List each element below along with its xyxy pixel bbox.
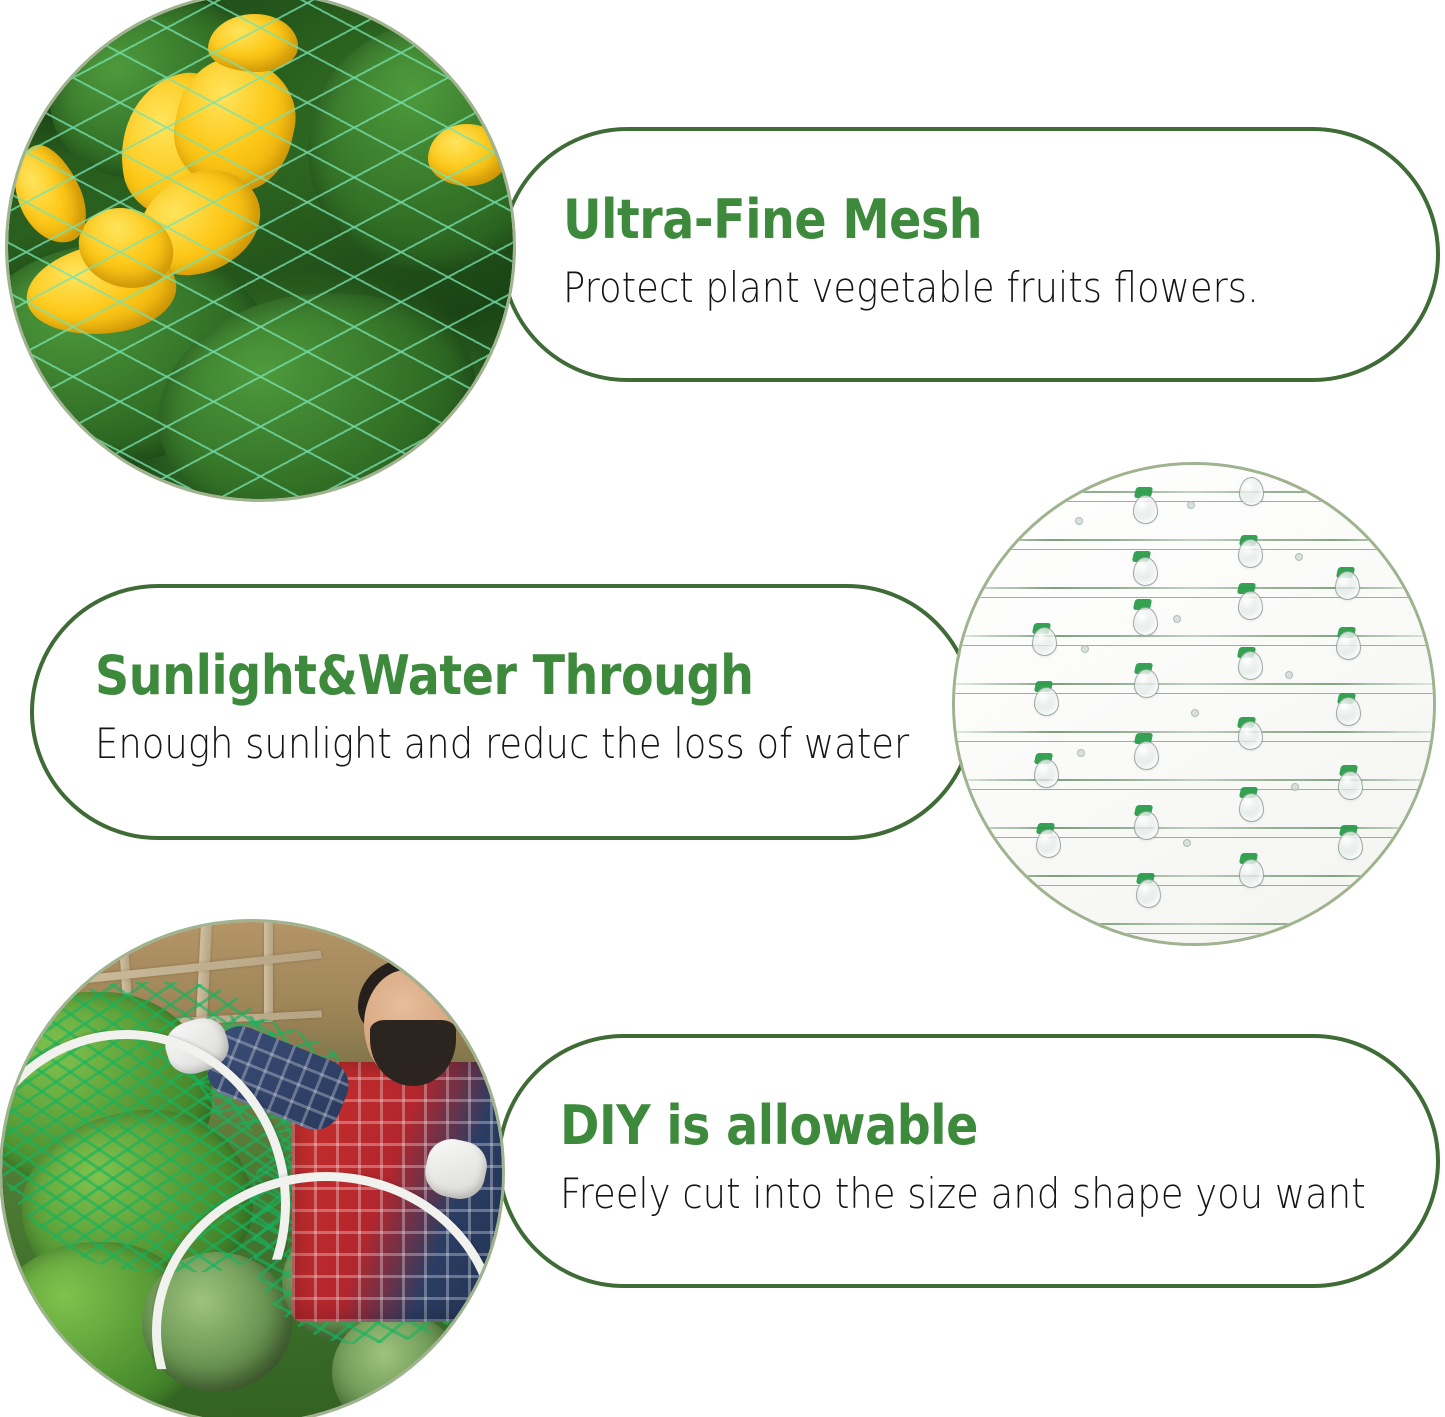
water-droplet bbox=[1032, 627, 1057, 656]
feature-subtitle-ultra-fine-mesh: Protect plant vegetable fruits flowers. bbox=[563, 265, 1293, 311]
flower-photo bbox=[8, 0, 513, 499]
water-droplet bbox=[1336, 697, 1361, 726]
mesh-strand bbox=[955, 731, 1433, 733]
mesh-strand bbox=[955, 587, 1433, 589]
water-droplet bbox=[1036, 829, 1061, 858]
water-droplet bbox=[1239, 793, 1264, 822]
small-water-bead bbox=[1285, 671, 1293, 679]
feature-subtitle-sunlight-water-through: Enough sunlight and reduc the loss of wa… bbox=[95, 721, 861, 767]
mesh-strand bbox=[955, 491, 1433, 493]
water-droplet bbox=[1338, 771, 1363, 800]
water-droplet bbox=[1133, 557, 1158, 586]
mesh-strand bbox=[955, 827, 1433, 829]
mesh-strand bbox=[955, 539, 1433, 541]
water-droplet bbox=[1238, 651, 1263, 680]
garden-stake bbox=[264, 922, 273, 1022]
water-droplet bbox=[1239, 477, 1264, 506]
small-water-bead bbox=[1183, 839, 1191, 847]
mesh-strand bbox=[955, 875, 1433, 877]
feature-text-diy-is-allowable: DIY is allowable Freely cut into the siz… bbox=[560, 1098, 1400, 1217]
feature-image-ultra-fine-mesh bbox=[8, 0, 513, 499]
small-water-bead bbox=[1191, 709, 1199, 717]
small-water-bead bbox=[1077, 749, 1085, 757]
water-droplet bbox=[1238, 591, 1263, 620]
water-droplet bbox=[1133, 495, 1158, 524]
small-water-bead bbox=[1173, 615, 1181, 623]
water-droplet bbox=[1238, 539, 1263, 568]
small-water-bead bbox=[1081, 645, 1089, 653]
feature-title-sunlight-water-through: Sunlight&Water Through bbox=[95, 648, 861, 705]
water-droplet bbox=[1338, 831, 1363, 860]
small-water-bead bbox=[1291, 783, 1299, 791]
infographic-page: Ultra-Fine Mesh Protect plant vegetable … bbox=[0, 0, 1445, 1417]
gardener-photo bbox=[2, 922, 502, 1417]
small-water-bead bbox=[1295, 553, 1303, 561]
water-droplet bbox=[1136, 879, 1161, 908]
mesh-strand bbox=[955, 635, 1433, 637]
water-droplet bbox=[1238, 721, 1263, 750]
water-droplet bbox=[1335, 571, 1360, 600]
feature-title-diy-is-allowable: DIY is allowable bbox=[560, 1098, 1299, 1155]
small-water-bead bbox=[1187, 501, 1195, 509]
mesh-strand bbox=[955, 683, 1433, 685]
small-water-bead bbox=[1075, 517, 1083, 525]
water-droplet bbox=[1134, 811, 1159, 840]
mesh-strand bbox=[955, 923, 1433, 925]
feature-subtitle-diy-is-allowable: Freely cut into the size and shape you w… bbox=[560, 1171, 1299, 1217]
water-droplet bbox=[1133, 607, 1158, 636]
feature-text-sunlight-water-through: Sunlight&Water Through Enough sunlight a… bbox=[95, 648, 965, 767]
water-droplet bbox=[1336, 631, 1361, 660]
droplet-mesh-photo bbox=[955, 465, 1433, 943]
water-droplet bbox=[1134, 669, 1159, 698]
feature-text-ultra-fine-mesh: Ultra-Fine Mesh Protect plant vegetable … bbox=[563, 192, 1393, 311]
mesh-net-overlay bbox=[8, 0, 513, 499]
water-droplet bbox=[1134, 741, 1159, 770]
water-droplet bbox=[1239, 859, 1264, 888]
feature-image-sunlight-water-through bbox=[955, 465, 1433, 943]
feature-title-ultra-fine-mesh: Ultra-Fine Mesh bbox=[563, 192, 1293, 249]
water-droplet bbox=[1034, 687, 1059, 716]
feature-image-diy-is-allowable bbox=[2, 922, 502, 1417]
water-droplet bbox=[1034, 759, 1059, 788]
